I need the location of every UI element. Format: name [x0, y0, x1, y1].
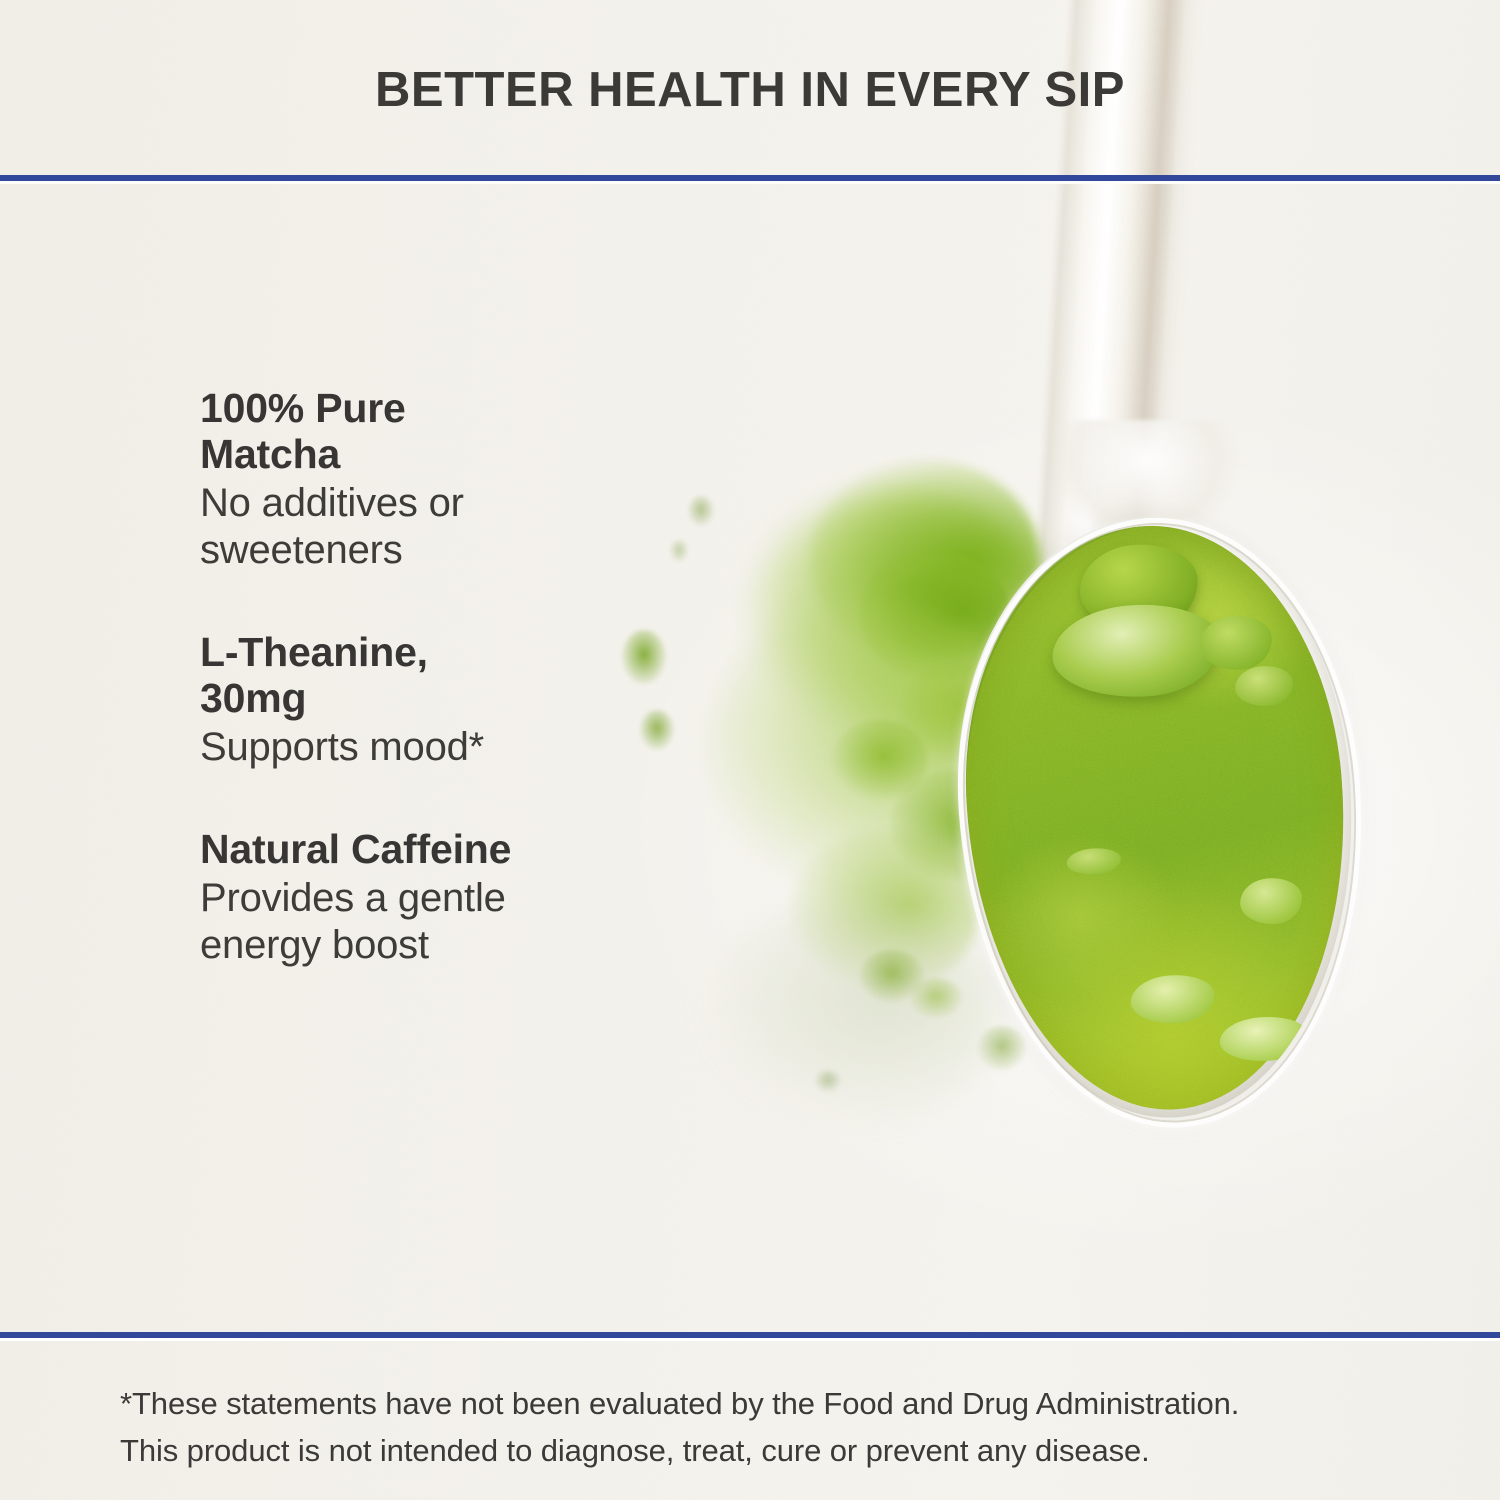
- feature-item-pure-matcha: 100% Pure Matcha No additives or sweeten…: [200, 386, 530, 574]
- product-feature-panel: BETTER HEALTH IN EVERY SIP 100% Pure Mat…: [0, 0, 1500, 1500]
- fda-disclaimer: *These statements have not been evaluate…: [120, 1380, 1400, 1474]
- page-title: BETTER HEALTH IN EVERY SIP: [0, 62, 1500, 118]
- feature-item-l-theanine: L-Theanine, 30mg Supports mood*: [200, 630, 530, 771]
- feature-title: 100% Pure Matcha: [200, 386, 530, 478]
- matcha-spoon-photo: [560, 0, 1500, 1330]
- feature-list: 100% Pure Matcha No additives or sweeten…: [200, 386, 530, 969]
- feature-item-natural-caffeine: Natural Caffeine Provides a gentle energ…: [200, 827, 530, 969]
- divider-top: [0, 175, 1500, 181]
- feature-description: Provides a gentle energy boost: [200, 875, 530, 969]
- feature-description: No additives or sweeteners: [200, 480, 530, 574]
- disclaimer-line-2: This product is not intended to diagnose…: [120, 1427, 1400, 1474]
- feature-description: Supports mood*: [200, 724, 530, 771]
- feature-title: Natural Caffeine: [200, 827, 530, 873]
- divider-bottom: [0, 1332, 1500, 1338]
- disclaimer-line-1: *These statements have not been evaluate…: [120, 1380, 1400, 1427]
- feature-title: L-Theanine, 30mg: [200, 630, 530, 722]
